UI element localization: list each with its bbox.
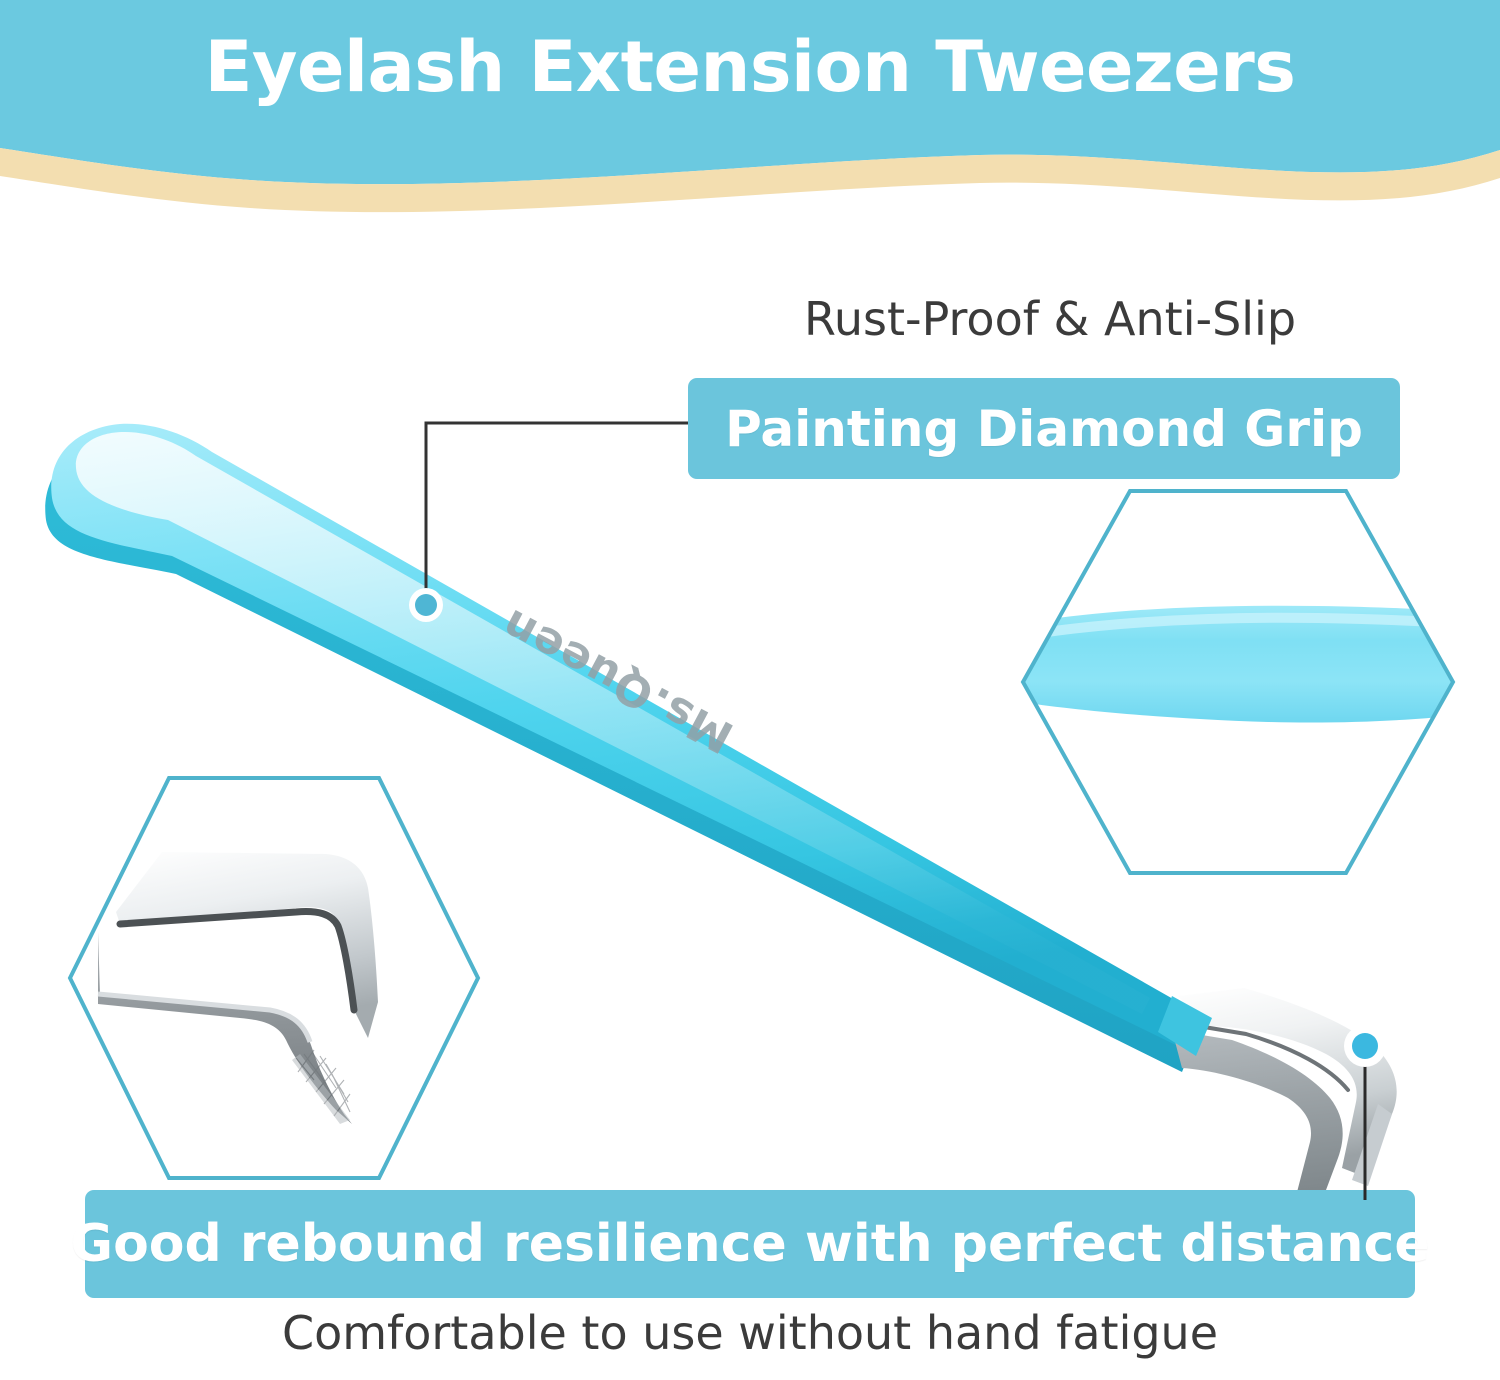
hexagon-tip-closeup [64, 772, 484, 1184]
caption-comfortable-to-use: Comfortable to use without hand fatigue [0, 1306, 1500, 1360]
hexagon-right-content [1018, 486, 1458, 878]
tweezer-metal-tips [1158, 988, 1397, 1206]
badge-rebound-label: Good rebound resilience with perfect dis… [70, 1214, 1429, 1274]
badge-painting-diamond-grip: Painting Diamond Grip [688, 378, 1400, 479]
badge-painting-label: Painting Diamond Grip [725, 400, 1363, 458]
subheading-rust-proof: Rust-Proof & Anti-Slip [700, 292, 1400, 346]
tip-lower-arm [1172, 1030, 1343, 1206]
infographic-page: Eyelash Extension Tweezers [0, 0, 1500, 1380]
hexagon-grip-closeup [1018, 486, 1458, 878]
badge-good-rebound: Good rebound resilience with perfect dis… [85, 1190, 1415, 1298]
hexagon-left-content [64, 772, 484, 1184]
